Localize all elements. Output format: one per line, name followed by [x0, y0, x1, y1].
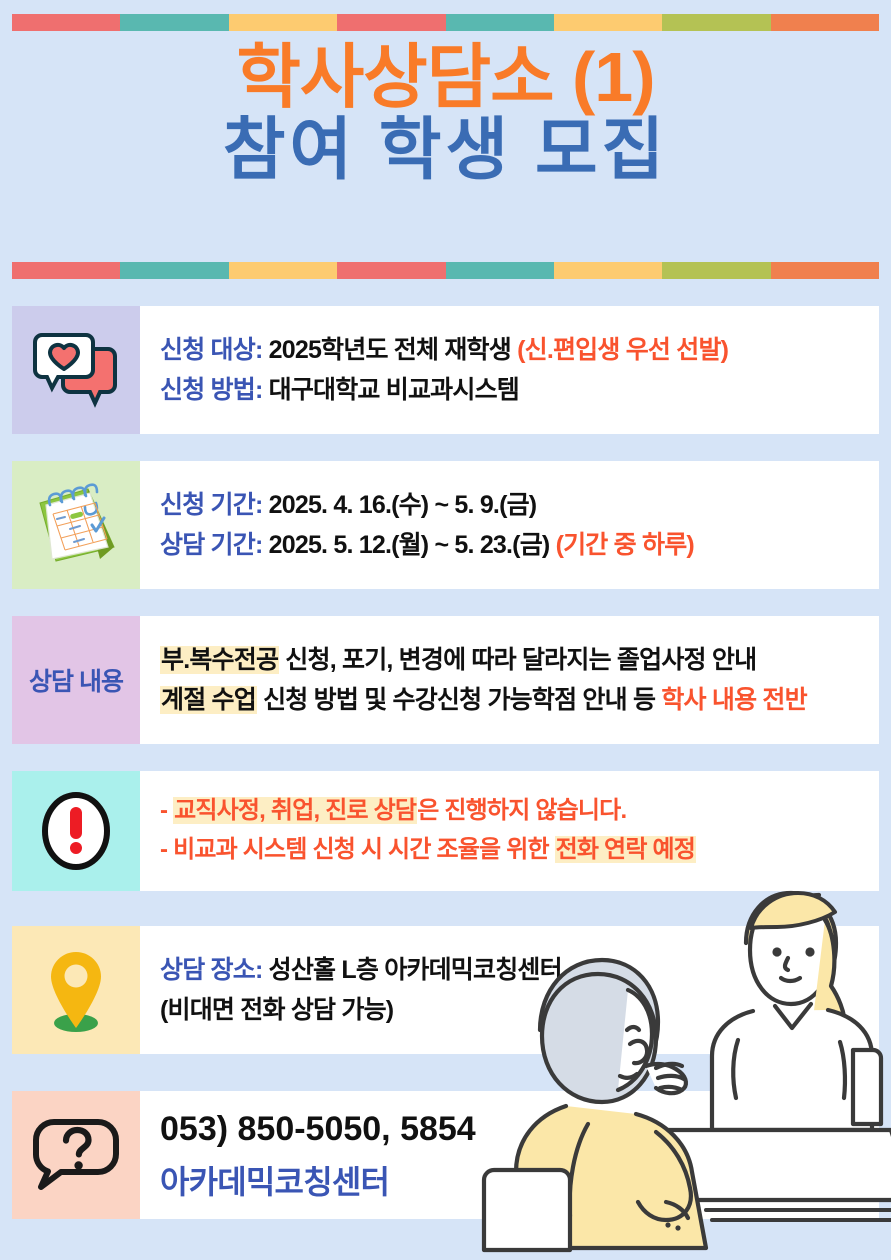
- rule-segment-7: [771, 14, 879, 31]
- exclamation-circle-icon: [40, 790, 112, 872]
- icon-box-consult-topics: 상담 내용: [12, 616, 140, 744]
- value-apply-period: 2025. 4. 16.(수) ~ 5. 9.(금): [262, 491, 536, 519]
- row-location: 상담 장소: 성산홀 L층 아카데믹코칭센터 (비대면 전화 상담 가능): [12, 926, 879, 1054]
- content-contact: 053) 850-5050, 5854 아카데믹코칭센터: [140, 1091, 879, 1219]
- icon-box-contact: [12, 1091, 140, 1219]
- notice-1-dash: -: [160, 797, 173, 824]
- line-method: 신청 방법: 대구대학교 비교과시스템: [160, 370, 879, 411]
- label-consult-period: 상담 기간:: [160, 531, 262, 559]
- value-topic-2: 신청 방법 및 수강신청 가능학점 안내 등: [257, 686, 661, 714]
- rule-segment-0: [12, 14, 120, 31]
- value-notice-2: 비교과 시스템 신청 시 시간 조율을 위한: [173, 836, 555, 863]
- notice-2-dash: -: [160, 836, 173, 863]
- note-target: (신.편입생 우선 선발): [517, 336, 728, 364]
- line-consult-period: 상담 기간: 2025. 5. 12.(월) ~ 5. 23.(금) (기간 중…: [160, 525, 879, 566]
- rule-segment-2: [229, 14, 337, 31]
- line-target: 신청 대상: 2025학년도 전체 재학생 (신.편입생 우선 선발): [160, 330, 879, 371]
- row-target-method: 신청 대상: 2025학년도 전체 재학생 (신.편입생 우선 선발) 신청 방…: [12, 306, 879, 434]
- contact-phone: 053) 850-5050, 5854: [160, 1102, 879, 1157]
- rule-segment-7: [771, 262, 879, 279]
- desk-calendar-icon: [26, 481, 126, 569]
- label-method: 신청 방법:: [160, 376, 262, 404]
- highlight-seasonal-class: 계절 수업: [160, 686, 257, 714]
- value-notice-1: 은 진행하지 않습니다.: [417, 797, 626, 824]
- highlight-excluded-topics: 교직사정, 취업, 진로 상담: [173, 797, 417, 824]
- rule-segment-3: [337, 14, 445, 31]
- rule-segment-2: [229, 262, 337, 279]
- label-target: 신청 대상:: [160, 336, 262, 364]
- speech-bubble-heart-icon: [30, 331, 122, 409]
- rule-segment-6: [662, 14, 770, 31]
- rule-segment-1: [120, 14, 228, 31]
- title-line-1: 학사상담소 (1): [0, 40, 891, 114]
- rule-segment-1: [120, 262, 228, 279]
- row-consult-topics: 상담 내용 부.복수전공 신청, 포기, 변경에 따라 달라지는 졸업사정 안내…: [12, 616, 879, 744]
- content-consult-topics: 부.복수전공 신청, 포기, 변경에 따라 달라지는 졸업사정 안내 계절 수업…: [140, 616, 879, 744]
- contact-center-name: 아카데믹코칭센터: [160, 1157, 879, 1209]
- line-apply-period: 신청 기간: 2025. 4. 16.(수) ~ 5. 9.(금): [160, 485, 879, 526]
- rule-segment-4: [446, 262, 554, 279]
- question-speech-bubble-icon: [30, 1114, 122, 1196]
- label-apply-period: 신청 기간:: [160, 491, 262, 519]
- highlight-phone-contact: 전화 연락 예정: [555, 836, 696, 863]
- value-topic-1: 신청, 포기, 변경에 따라 달라지는 졸업사정 안내: [279, 646, 756, 674]
- rule-segment-6: [662, 262, 770, 279]
- row-notices: - 교직사정, 취업, 진로 상담은 진행하지 않습니다. - 비교과 시스템 …: [12, 771, 879, 891]
- rule-segment-0: [12, 262, 120, 279]
- page-title: 학사상담소 (1) 참여 학생 모집: [0, 40, 891, 186]
- rule-segment-5: [554, 262, 662, 279]
- rule-segment-3: [337, 262, 445, 279]
- value-method: 대구대학교 비교과시스템: [262, 376, 519, 404]
- content-target-method: 신청 대상: 2025학년도 전체 재학생 (신.편입생 우선 선발) 신청 방…: [140, 306, 879, 434]
- content-periods: 신청 기간: 2025. 4. 16.(수) ~ 5. 9.(금) 상담 기간:…: [140, 461, 879, 589]
- location-pin-icon: [40, 944, 112, 1036]
- poster-root: 학사상담소 (1) 참여 학생 모집 신청 대상: 2025학년도 전체 재학생…: [0, 0, 891, 1260]
- line-topic-2: 계절 수업 신청 방법 및 수강신청 가능학점 안내 등 학사 내용 전반: [160, 680, 879, 721]
- value-consult-period: 2025. 5. 12.(월) ~ 5. 23.(금): [262, 531, 555, 559]
- title-line-2: 참여 학생 모집: [0, 114, 891, 186]
- icon-box-notices: [12, 771, 140, 891]
- note-topic-2: 학사 내용 전반: [661, 686, 807, 714]
- top-color-rule: [12, 14, 879, 31]
- content-location: 상담 장소: 성산홀 L층 아카데믹코칭센터 (비대면 전화 상담 가능): [140, 926, 879, 1054]
- row-periods: 신청 기간: 2025. 4. 16.(수) ~ 5. 9.(금) 상담 기간:…: [12, 461, 879, 589]
- consult-topics-label: 상담 내용: [29, 662, 123, 698]
- value-location-note: (비대면 전화 상담 가능): [160, 996, 393, 1024]
- line-notice-1: - 교직사정, 취업, 진로 상담은 진행하지 않습니다.: [160, 792, 879, 831]
- value-location: 성산홀 L층 아카데믹코칭센터: [262, 956, 561, 984]
- icon-box-target-method: [12, 306, 140, 434]
- line-location: 상담 장소: 성산홀 L층 아카데믹코칭센터: [160, 950, 879, 991]
- note-consult-period: (기간 중 하루): [556, 531, 694, 559]
- label-location: 상담 장소:: [160, 956, 262, 984]
- icon-box-periods: [12, 461, 140, 589]
- content-notices: - 교직사정, 취업, 진로 상담은 진행하지 않습니다. - 비교과 시스템 …: [140, 771, 879, 891]
- icon-box-location: [12, 926, 140, 1054]
- rule-segment-5: [554, 14, 662, 31]
- row-contact: 053) 850-5050, 5854 아카데믹코칭센터: [12, 1091, 879, 1219]
- rule-segment-4: [446, 14, 554, 31]
- line-location-note: (비대면 전화 상담 가능): [160, 990, 879, 1031]
- line-notice-2: - 비교과 시스템 신청 시 시간 조율을 위한 전화 연락 예정: [160, 831, 879, 870]
- value-target: 2025학년도 전체 재학생: [262, 336, 517, 364]
- highlight-double-major: 부.복수전공: [160, 646, 279, 674]
- bottom-color-rule: [12, 262, 879, 279]
- line-topic-1: 부.복수전공 신청, 포기, 변경에 따라 달라지는 졸업사정 안내: [160, 640, 879, 681]
